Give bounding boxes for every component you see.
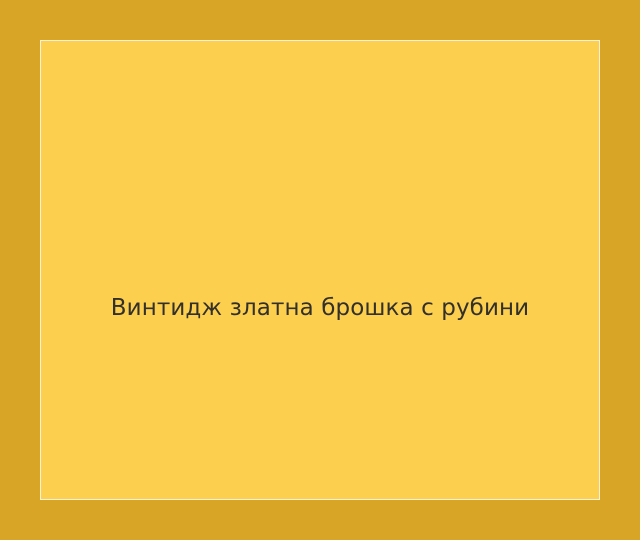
placeholder-caption-text: Винтидж златна брошка с рубини — [41, 294, 599, 323]
image-canvas: Винтидж златна брошка с рубини — [0, 0, 640, 540]
placeholder-image-panel: Винтидж златна брошка с рубини — [40, 40, 600, 500]
